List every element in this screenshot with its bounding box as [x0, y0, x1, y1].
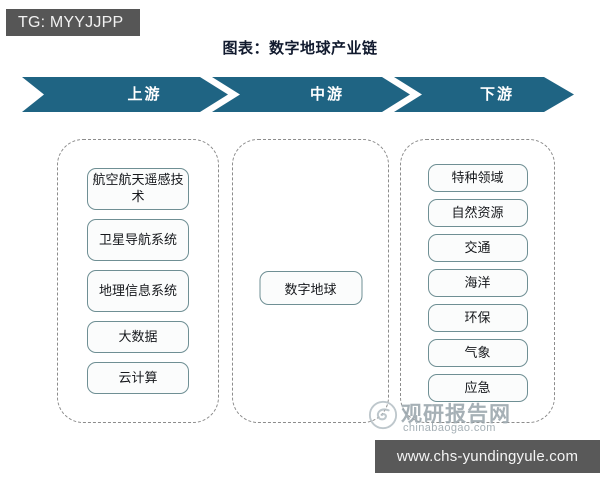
banner-arrow-shape	[22, 77, 574, 112]
stage-container-upstream: 航空航天遥感技术 卫星导航系统 地理信息系统 大数据 云计算	[57, 139, 219, 423]
node-box: 卫星导航系统	[87, 219, 189, 261]
diagram-canvas: TG: MYYJJPP 图表：数字地球产业链 上游 中游 下游 航空航天遥感技术…	[0, 0, 600, 480]
stage-container-downstream: 特种领域 自然资源 交通 海洋 环保 气象 应急	[400, 139, 555, 423]
node-box: 地理信息系统	[87, 270, 189, 312]
node-box: 自然资源	[428, 199, 528, 227]
node-box: 航空航天遥感技术	[87, 168, 189, 210]
node-box: 云计算	[87, 362, 189, 394]
node-box: 海洋	[428, 269, 528, 297]
node-box: 大数据	[87, 321, 189, 353]
node-box: 应急	[428, 374, 528, 402]
watermark-en-text: chinabaogao.com	[403, 422, 496, 434]
stage-items-upstream: 航空航天遥感技术 卫星导航系统 地理信息系统 大数据 云计算	[58, 168, 218, 394]
node-box: 交通	[428, 234, 528, 262]
stage-container-midstream: 数字地球	[232, 139, 389, 423]
node-box: 环保	[428, 304, 528, 332]
tg-tag: TG: MYYJJPP	[6, 9, 140, 36]
stage-items-downstream: 特种领域 自然资源 交通 海洋 环保 气象 应急	[401, 164, 554, 402]
node-box: 气象	[428, 339, 528, 367]
node-box: 数字地球	[259, 271, 362, 305]
stage-banner: 上游 中游 下游	[22, 77, 574, 112]
url-bar: www.chs-yundingyule.com	[375, 440, 600, 473]
node-box: 特种领域	[428, 164, 528, 192]
page-title: 图表：数字地球产业链	[0, 37, 600, 58]
